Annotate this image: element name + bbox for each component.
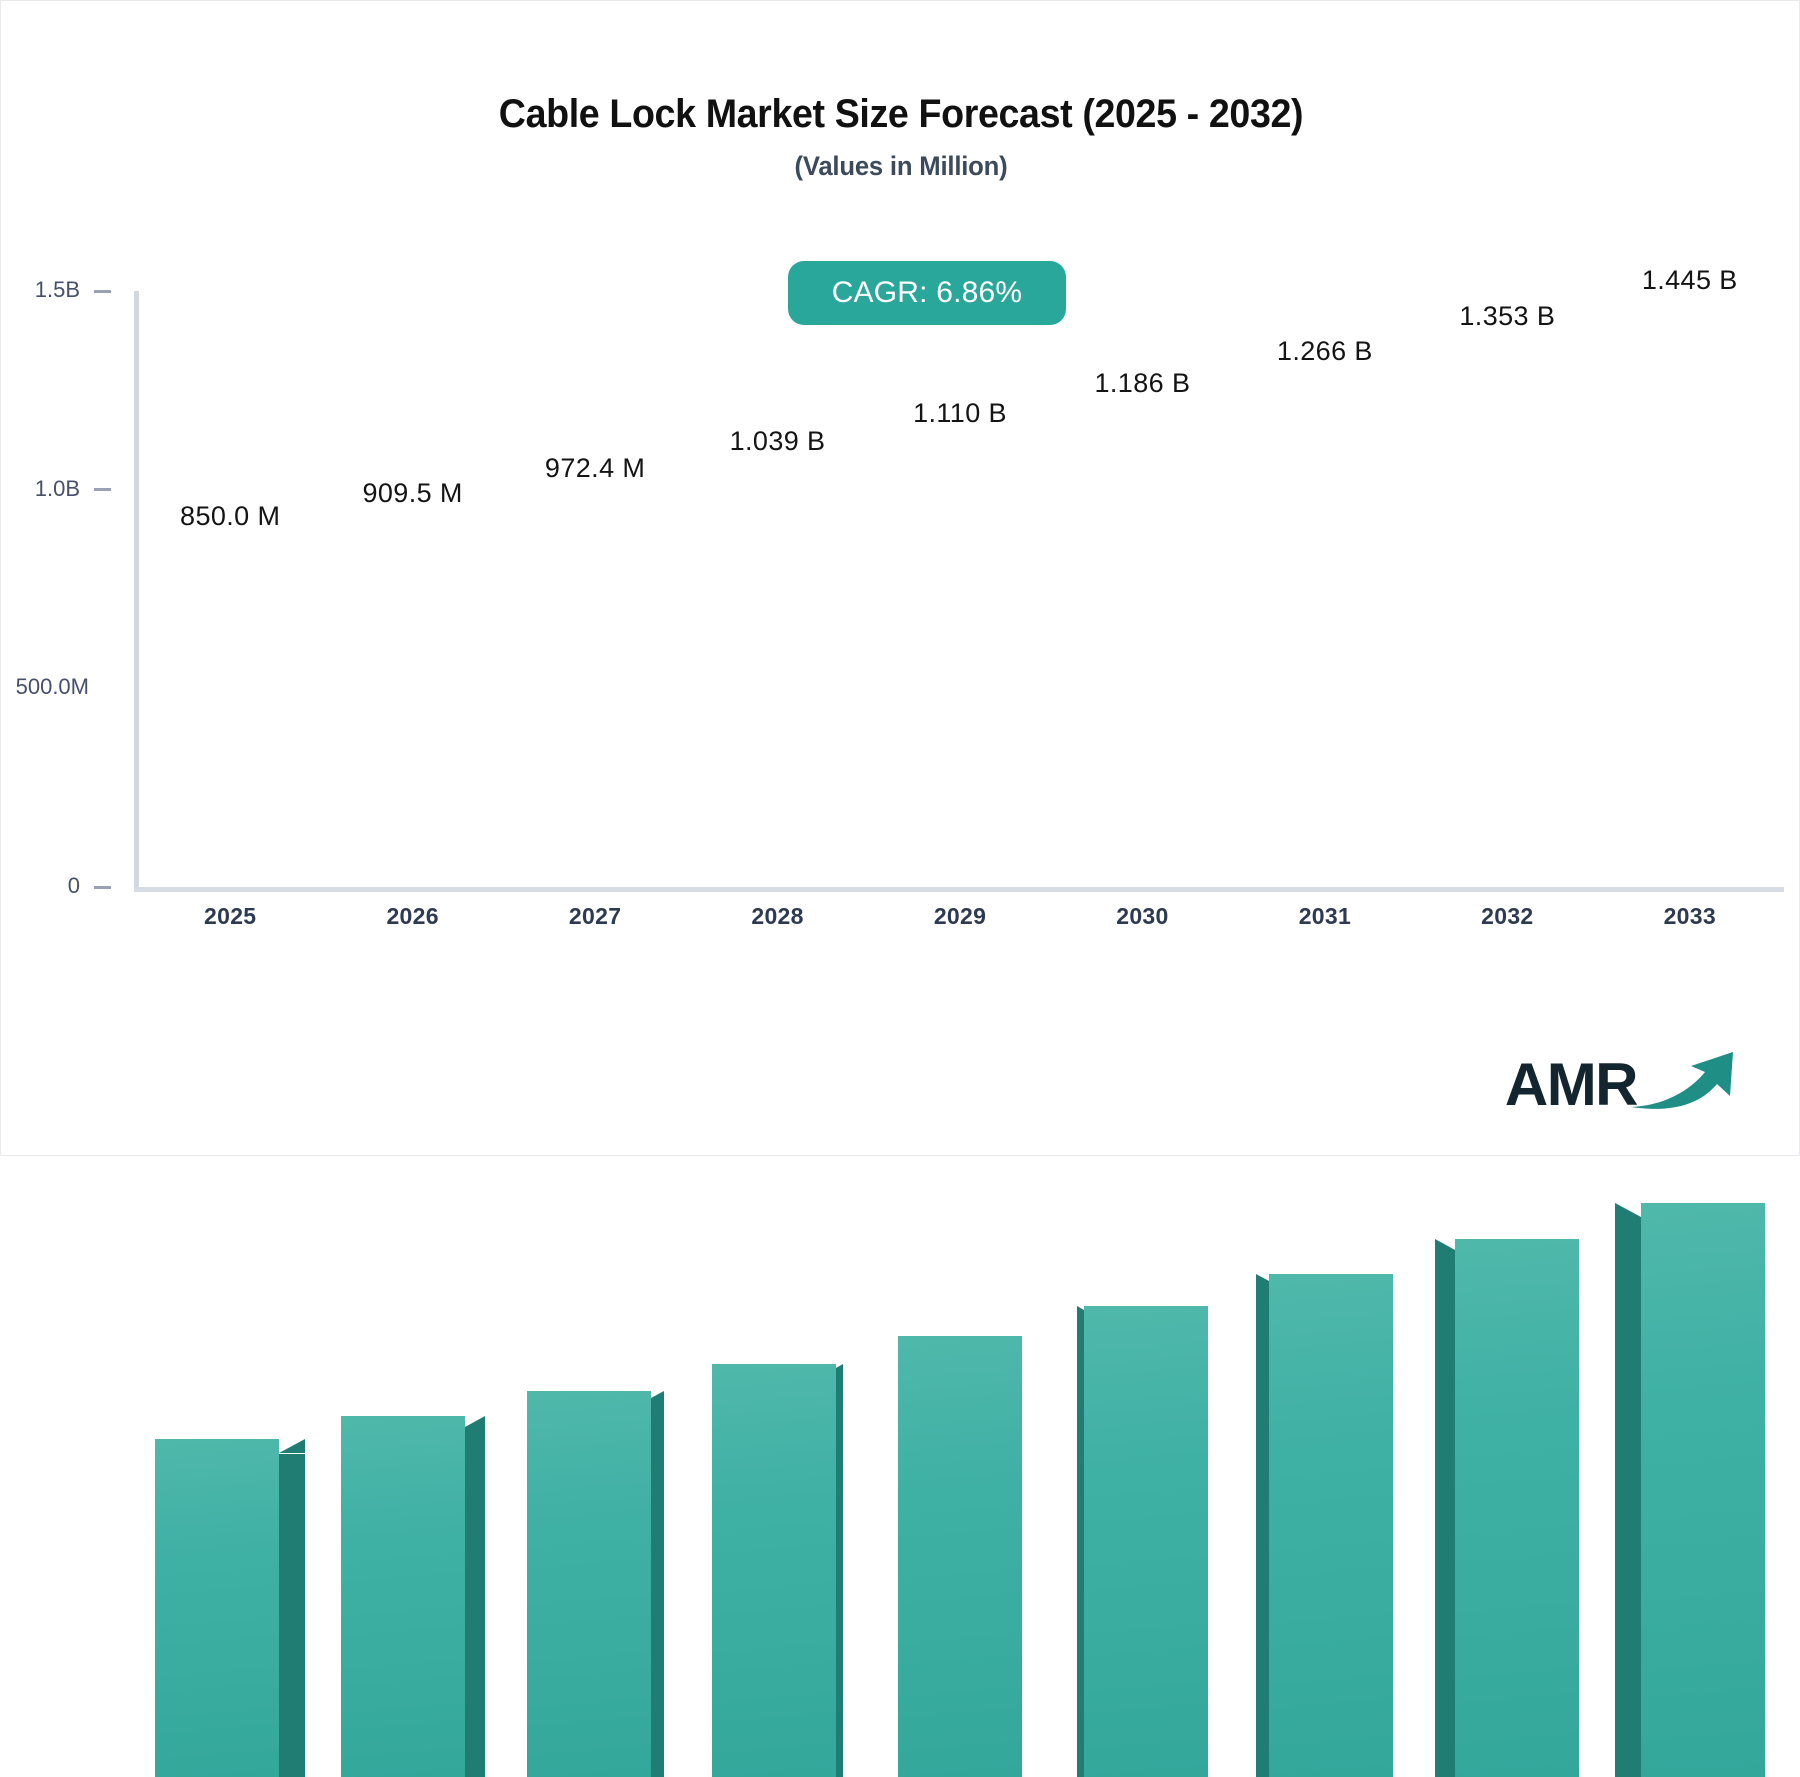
bar-value-label: 1.110 B — [830, 398, 1090, 429]
bar-top-chamfer — [465, 1416, 485, 1427]
x-axis-line — [134, 887, 1784, 892]
bar-value-label: 1.186 B — [1012, 368, 1272, 399]
bar-top-chamfer — [1077, 1306, 1084, 1310]
y-axis-tick-dash — [94, 290, 111, 293]
bar-value-label: 1.039 B — [648, 426, 908, 457]
bar-side-face — [1435, 1250, 1455, 1777]
bar-top-chamfer — [836, 1364, 843, 1368]
y-axis-tick-label: 1.0B — [35, 476, 80, 502]
bar-side-face — [1256, 1281, 1269, 1777]
bar-top-chamfer — [1615, 1203, 1641, 1217]
y-axis-tick-dash — [94, 886, 111, 889]
bar-top-chamfer — [1435, 1239, 1455, 1250]
bar-side-face — [279, 1454, 305, 1777]
bar-front-face — [1455, 1239, 1579, 1777]
chart-canvas: Cable Lock Market Size Forecast (2025 - … — [0, 0, 1800, 1156]
bar-top-chamfer — [651, 1391, 664, 1398]
bar-value-label: 972.4 M — [465, 453, 725, 484]
y-axis-tick-label: 1.5B — [35, 277, 80, 303]
bar-front-face — [1269, 1274, 1393, 1777]
bar-side-face — [465, 1427, 485, 1777]
y-axis-tick-label: 500.0M — [16, 674, 89, 700]
plot-area: 0500.0M1.0B1.5B 850.0 M909.5 M972.4 M1.0… — [1, 1, 1800, 1157]
bar-front-face — [1641, 1203, 1765, 1777]
amr-logo-text: AMR — [1505, 1055, 1637, 1115]
bar-value-label: 1.445 B — [1560, 265, 1800, 296]
bar-top-chamfer — [1256, 1274, 1269, 1281]
bar-value-label: 1.266 B — [1195, 336, 1455, 367]
bar-top-chamfer — [279, 1439, 305, 1453]
bar-side-face — [651, 1398, 664, 1777]
y-axis-tick-label: 0 — [68, 873, 80, 899]
bar-front-face — [1084, 1306, 1208, 1777]
bar-side-face — [1077, 1310, 1084, 1777]
bar-value-label: 1.353 B — [1377, 301, 1637, 332]
x-axis-label-2033: 2033 — [1560, 903, 1800, 930]
bar-front-face — [712, 1364, 836, 1777]
trend-up-arrow-icon — [1629, 1050, 1747, 1117]
y-axis-line — [134, 291, 139, 891]
amr-logo: AMR — [1505, 1050, 1747, 1115]
bar-front-face — [155, 1439, 279, 1777]
bar-front-face — [527, 1391, 651, 1777]
y-axis-tick-dash — [94, 488, 111, 491]
bar-side-face — [836, 1368, 843, 1777]
bar-front-face — [341, 1416, 465, 1777]
bar-side-face — [1615, 1217, 1641, 1777]
bar-front-face — [898, 1336, 1022, 1777]
